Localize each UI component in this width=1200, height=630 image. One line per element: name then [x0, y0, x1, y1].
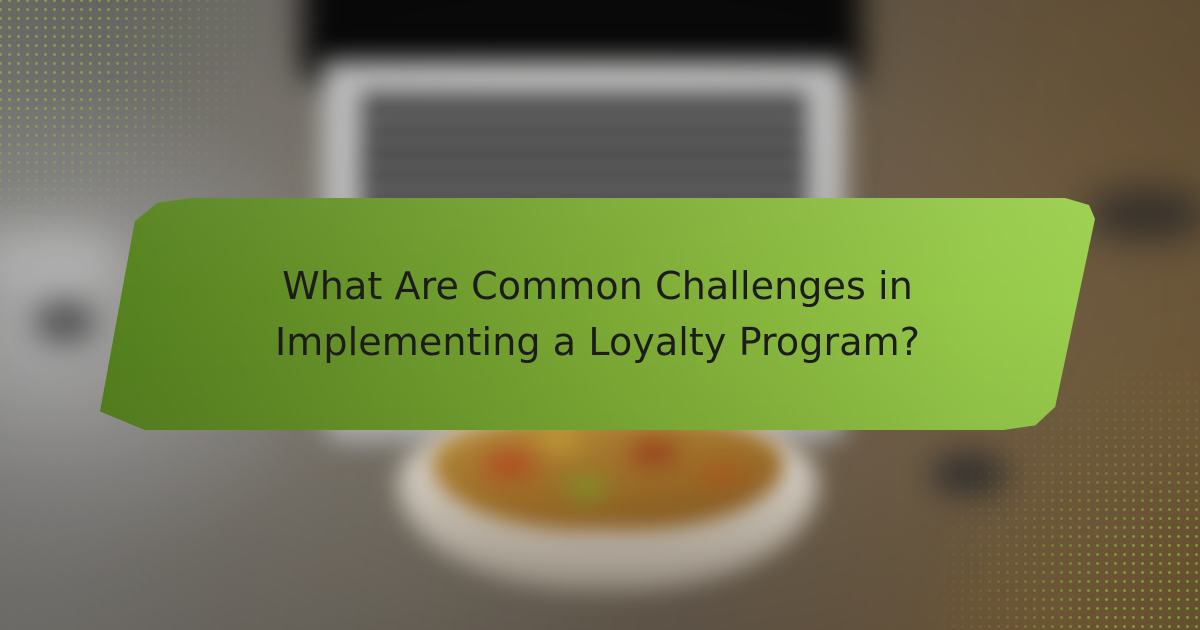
- page-title-line-1: What Are Common Challenges in: [282, 258, 913, 314]
- page-title-line-2: Implementing a Loyalty Program?: [275, 314, 920, 370]
- social-card: What Are Common Challenges in Implementi…: [0, 0, 1200, 630]
- title-block: What Are Common Challenges in Implementi…: [100, 198, 1095, 430]
